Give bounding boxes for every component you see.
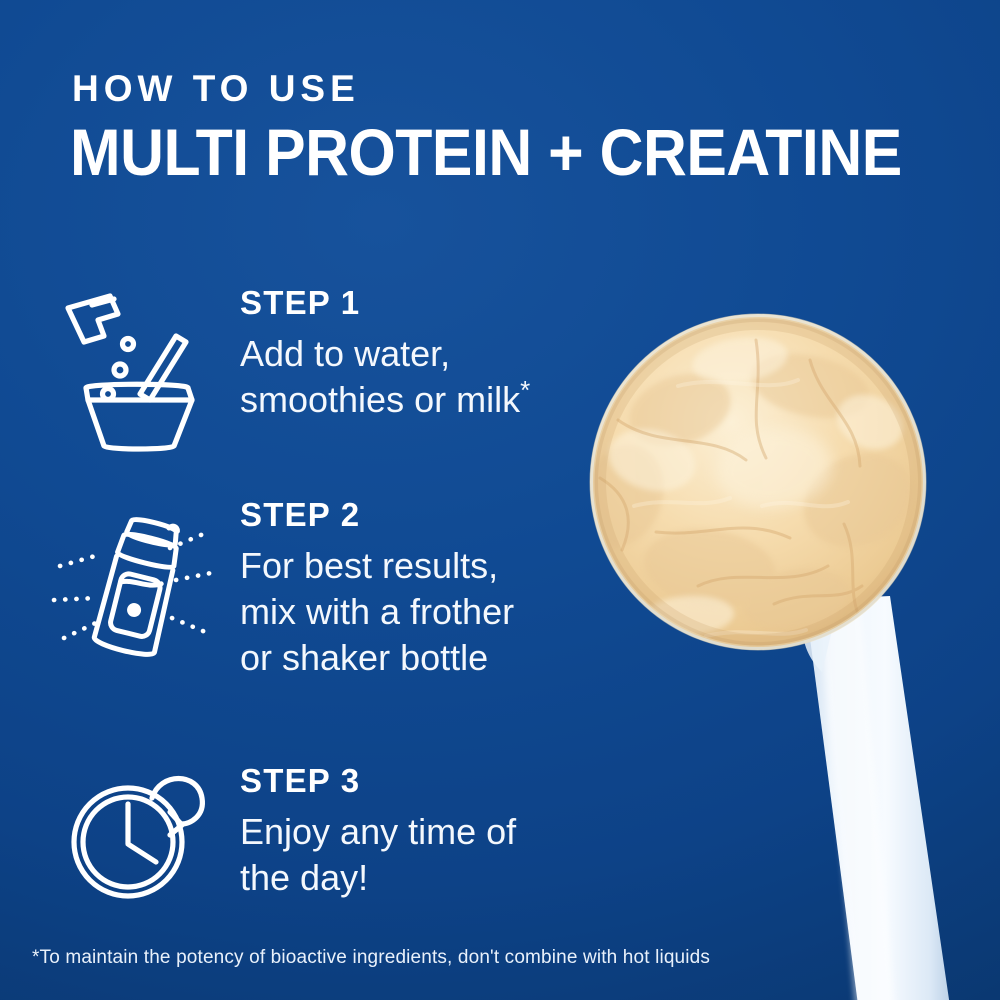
step-3-title: STEP 3 [240,764,660,797]
how-to-use-poster: HOW TO USE MULTI PROTEIN + CREATINE [0,0,1000,1000]
glass-with-straw-and-sachet-icon [62,288,212,453]
footnote-marker: * [520,375,530,405]
scoop-handle [802,596,952,1000]
step-2-title: STEP 2 [240,498,660,531]
footnote-disclaimer: *To maintain the potency of bioactive in… [32,948,710,967]
clock-with-arrow-icon [66,762,214,907]
step-1-body: STEP 1 Add to water, smoothies or milk* [240,286,660,423]
step-1-text: Add to water, smoothies or milk* [240,331,660,423]
page-title: MULTI PROTEIN + CREATINE [70,119,902,185]
step-2-body: STEP 2 For best results, mix with a frot… [240,498,660,681]
step-1-title: STEP 1 [240,286,660,319]
shaker-bottle-icon [50,514,222,674]
step-3-body: STEP 3 Enjoy any time of the day! [240,764,660,901]
eyebrow-how-to-use: HOW TO USE [72,70,360,107]
step-3-text: Enjoy any time of the day! [240,809,660,901]
step-2-text: For best results, mix with a frother or … [240,543,660,681]
